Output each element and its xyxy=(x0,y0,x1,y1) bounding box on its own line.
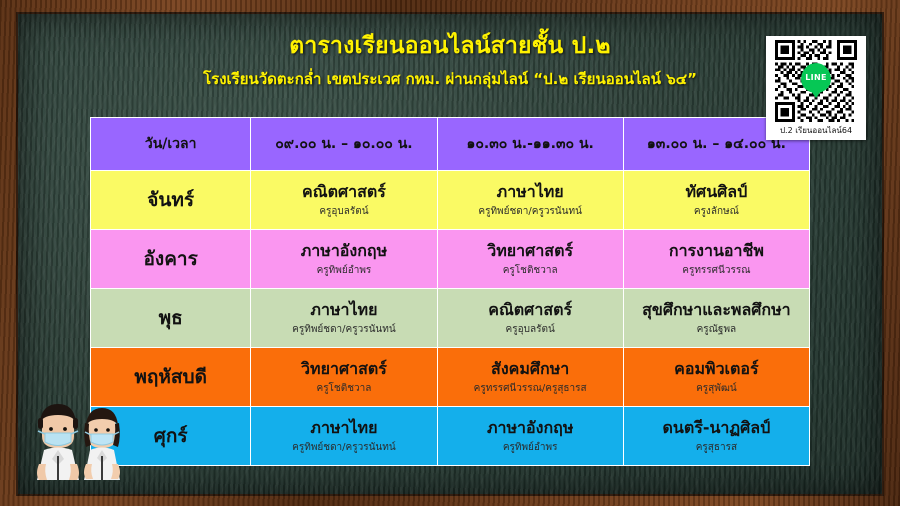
subject-name: ภาษาอังกฤษ xyxy=(441,418,620,437)
teacher-name: ครูทรรศนีวรรณ xyxy=(627,265,806,277)
student-cartoons xyxy=(24,392,136,488)
table-header-row: วัน/เวลา๐๙.๐๐ น. – ๑๐.๐๐ น.๑๐.๓๐ น.-๑๑.๓… xyxy=(91,118,810,171)
subject-name: สุขศึกษาและพลศึกษา xyxy=(627,300,806,319)
schedule-cell: ภาษาอังกฤษครูทิพย์อำพร xyxy=(251,230,437,289)
qr-code-image[interactable]: LINE xyxy=(770,40,862,122)
subject-name: ภาษาไทย xyxy=(254,300,433,319)
schedule-cell: ทัศนศิลป์ครูงลักษณ์ xyxy=(623,171,809,230)
qr-caption: ป.2 เรียนออนไลน์64 xyxy=(770,122,862,138)
day-label-cell: จันทร์ xyxy=(91,171,251,230)
teacher-name: ครูอุบลรัตน์ xyxy=(441,324,620,336)
schedule-cell: ดนตรี-นาฏศิลป์ครูสุธารส xyxy=(623,407,809,466)
line-logo-icon: LINE xyxy=(801,63,831,93)
table-row: ศุกร์ภาษาไทยครูทิพย์ชดา/ครูวรนันทน์ภาษาอ… xyxy=(91,407,810,466)
schedule-cell: คณิตศาสตร์ครูอุบลรัตน์ xyxy=(251,171,437,230)
teacher-name: ครูทิพย์ชดา/ครูวรนันทน์ xyxy=(254,442,433,454)
column-header-timeslot-2: ๑๐.๓๐ น.-๑๑.๓๐ น. xyxy=(437,118,623,171)
table-row: จันทร์คณิตศาสตร์ครูอุบลรัตน์ภาษาไทยครูทิ… xyxy=(91,171,810,230)
schedule-cell: ภาษาไทยครูทิพย์ชดา/ครูวรนันทน์ xyxy=(251,407,437,466)
table-row: พุธภาษาไทยครูทิพย์ชดา/ครูวรนันทน์คณิตศาส… xyxy=(91,289,810,348)
day-label-cell: พุธ xyxy=(91,289,251,348)
subject-name: วิทยาศาสตร์ xyxy=(254,359,433,378)
subject-name: ทัศนศิลป์ xyxy=(627,182,806,201)
heading-block: ตารางเรียนออนไลน์สายชั้น ป.๒ โรงเรียนวัด… xyxy=(18,32,882,91)
subject-name: คณิตศาสตร์ xyxy=(254,182,433,201)
schedule-cell: วิทยาศาสตร์ครูโชติชวาล xyxy=(251,348,437,407)
column-header-day: วัน/เวลา xyxy=(91,118,251,171)
page-title: ตารางเรียนออนไลน์สายชั้น ป.๒ xyxy=(18,32,882,61)
teacher-name: ครูณัฐพล xyxy=(627,324,806,336)
teacher-name: ครูสุธารส xyxy=(627,442,806,454)
chalkboard: ตารางเรียนออนไลน์สายชั้น ป.๒ โรงเรียนวัด… xyxy=(18,14,882,494)
subject-name: การงานอาชีพ xyxy=(627,241,806,260)
subject-name: คณิตศาสตร์ xyxy=(441,300,620,319)
table-body: จันทร์คณิตศาสตร์ครูอุบลรัตน์ภาษาไทยครูทิ… xyxy=(91,171,810,466)
teacher-name: ครูทิพย์ชดา/ครูวรนันทน์ xyxy=(254,324,433,336)
subject-name: สังคมศึกษา xyxy=(441,359,620,378)
subject-name: วิทยาศาสตร์ xyxy=(441,241,620,260)
schedule-cell: ภาษาไทยครูทิพย์ชดา/ครูวรนันทน์ xyxy=(251,289,437,348)
schedule-cell: ภาษาอังกฤษครูทิพย์อำพร xyxy=(437,407,623,466)
two-masked-students-icon xyxy=(24,392,136,488)
teacher-name: ครูทิพย์อำพร xyxy=(441,442,620,454)
schedule-cell: ภาษาไทยครูทิพย์ชดา/ครูวรนันทน์ xyxy=(437,171,623,230)
schedule-table-wrapper: วัน/เวลา๐๙.๐๐ น. – ๑๐.๐๐ น.๑๐.๓๐ น.-๑๑.๓… xyxy=(90,117,810,466)
wooden-frame: ตารางเรียนออนไลน์สายชั้น ป.๒ โรงเรียนวัด… xyxy=(0,0,900,506)
schedule-cell: สังคมศึกษาครูทรรศนีวรรณ/ครูสุธารส xyxy=(437,348,623,407)
table-row: พฤหัสบดีวิทยาศาสตร์ครูโชติชวาลสังคมศึกษา… xyxy=(91,348,810,407)
line-qr-card[interactable]: LINE ป.2 เรียนออนไลน์64 xyxy=(766,36,866,140)
schedule-table: วัน/เวลา๐๙.๐๐ น. – ๑๐.๐๐ น.๑๐.๓๐ น.-๑๑.๓… xyxy=(90,117,810,466)
schedule-cell: คอมพิวเตอร์ครูสุพัฒน์ xyxy=(623,348,809,407)
teacher-name: ครูโชติชวาล xyxy=(441,265,620,277)
table-row: อังคารภาษาอังกฤษครูทิพย์อำพรวิทยาศาสตร์ค… xyxy=(91,230,810,289)
subject-name: คอมพิวเตอร์ xyxy=(627,359,806,378)
table-head: วัน/เวลา๐๙.๐๐ น. – ๑๐.๐๐ น.๑๐.๓๐ น.-๑๑.๓… xyxy=(91,118,810,171)
teacher-name: ครูทิพย์ชดา/ครูวรนันทน์ xyxy=(441,206,620,218)
teacher-name: ครูอุบลรัตน์ xyxy=(254,206,433,218)
teacher-name: ครูงลักษณ์ xyxy=(627,206,806,218)
subject-name: ภาษาอังกฤษ xyxy=(254,241,433,260)
teacher-name: ครูโชติชวาล xyxy=(254,383,433,395)
schedule-cell: วิทยาศาสตร์ครูโชติชวาล xyxy=(437,230,623,289)
teacher-name: ครูทิพย์อำพร xyxy=(254,265,433,277)
schedule-cell: คณิตศาสตร์ครูอุบลรัตน์ xyxy=(437,289,623,348)
page-subtitle: โรงเรียนวัดตะกล่ำ เขตประเวศ กทม. ผ่านกลุ… xyxy=(18,67,882,91)
schedule-cell: การงานอาชีพครูทรรศนีวรรณ xyxy=(623,230,809,289)
subject-name: ดนตรี-นาฏศิลป์ xyxy=(627,418,806,437)
teacher-name: ครูสุพัฒน์ xyxy=(627,383,806,395)
schedule-cell: สุขศึกษาและพลศึกษาครูณัฐพล xyxy=(623,289,809,348)
subject-name: ภาษาไทย xyxy=(254,418,433,437)
teacher-name: ครูทรรศนีวรรณ/ครูสุธารส xyxy=(441,383,620,395)
subject-name: ภาษาไทย xyxy=(441,182,620,201)
column-header-timeslot-1: ๐๙.๐๐ น. – ๑๐.๐๐ น. xyxy=(251,118,437,171)
day-label-cell: อังคาร xyxy=(91,230,251,289)
